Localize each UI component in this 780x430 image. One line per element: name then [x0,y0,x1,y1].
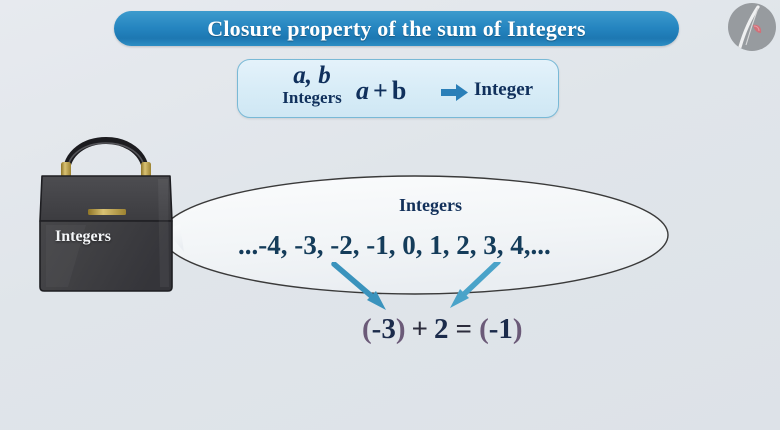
handbag-icon [26,113,186,293]
formula-result-label: Integer [474,79,533,101]
slide-canvas: Closure property of the sum of Integers … [0,0,780,430]
set-name-label: Integers [399,195,462,216]
operand-a: a [356,76,369,105]
bag-label: Integers [55,228,111,246]
closure-formula-box: a, b Integers a+b Integer [237,59,559,118]
page-title: Closure property of the sum of Integers [207,16,586,42]
down-right-arrow-icon [334,264,386,310]
circular-logo-watermark [728,3,776,51]
variables-ab: a, b [260,63,364,88]
right-arrow-icon [441,83,469,102]
down-left-arrow-icon [450,262,498,308]
slide-title-banner: Closure property of the sum of Integers [114,11,679,46]
variables-group: a, b Integers [260,63,364,106]
plus-sign: + [369,76,392,105]
variables-caption: Integers [260,89,364,106]
mapping-arrows [330,262,530,322]
operand-b: b [392,76,406,105]
integer-sequence-text: ...-4, -3, -2, -1, 0, 1, 2, 3, 4,... [238,230,551,261]
sum-expression: a+b [356,76,406,106]
watermark-glyph [728,3,776,51]
